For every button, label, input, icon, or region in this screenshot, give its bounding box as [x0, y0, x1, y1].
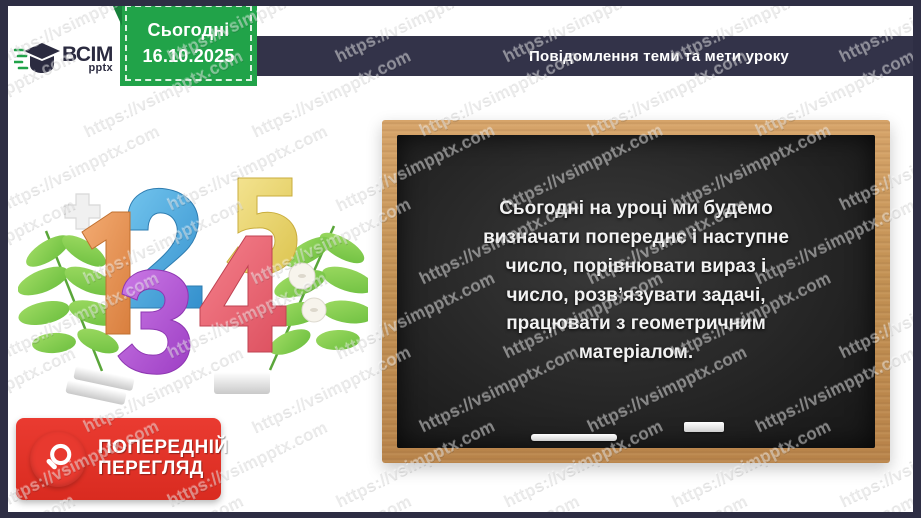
date-badge-value: 16.10.2025: [142, 46, 234, 67]
blackboard: Сьогодні на уроці ми будемо визначати по…: [382, 120, 890, 463]
preview-label-line1: ПОПЕРЕДНІЙ: [98, 438, 228, 459]
header-bar: Повідомлення теми та мети уроку: [255, 36, 913, 76]
graduation-cap-icon: [14, 39, 60, 79]
blackboard-surface: Сьогодні на уроці ми будемо визначати по…: [397, 135, 875, 448]
preview-button-label: ПОПЕРЕДНІЙ ПЕРЕГЛЯД: [98, 438, 228, 479]
board-line: визначати попереднє і наступне: [483, 224, 789, 253]
colorful-numbers-illustration: [18, 166, 368, 416]
date-badge: Сьогодні 16.10.2025: [120, 6, 257, 86]
date-badge-label: Сьогодні: [148, 20, 230, 41]
slide-outer-frame: Сьогодні на уроці ми будемо визначати по…: [0, 0, 921, 518]
chalk-stick-long: [531, 434, 617, 441]
preview-button[interactable]: ПОПЕРЕДНІЙ ПЕРЕГЛЯД: [16, 418, 221, 500]
logo-text: ВСІМ pptx: [62, 44, 113, 74]
preview-label-line2: ПЕРЕГЛЯД: [98, 459, 228, 480]
page-title: Повідомлення теми та мети уроку: [379, 48, 789, 65]
watermark-text: https://vsimpptx.com: [248, 491, 414, 512]
blackboard-text: Сьогодні на уроці ми будемо визначати по…: [483, 195, 789, 368]
board-line: число, розв’язувати задачі,: [483, 282, 789, 311]
board-line: матеріалом.: [483, 339, 789, 368]
board-line: число, порівнювати вираз і: [483, 253, 789, 282]
watermark-text: https://vsimpptx.com: [584, 491, 750, 512]
brand-logo[interactable]: ВСІМ pptx: [14, 32, 134, 86]
watermark-text: https://vsimpptx.com: [752, 491, 913, 512]
board-line: Сьогодні на уроці ми будемо: [483, 195, 789, 224]
watermark-text: https://vsimpptx.com: [416, 491, 582, 512]
board-line: працювати з геометричним: [483, 310, 789, 339]
date-badge-inner: Сьогодні 16.10.2025: [125, 6, 252, 81]
chalk-stick-short: [684, 422, 724, 432]
slide-canvas: Сьогодні на уроці ми будемо визначати по…: [8, 6, 913, 512]
magnifier-icon: [30, 431, 86, 487]
